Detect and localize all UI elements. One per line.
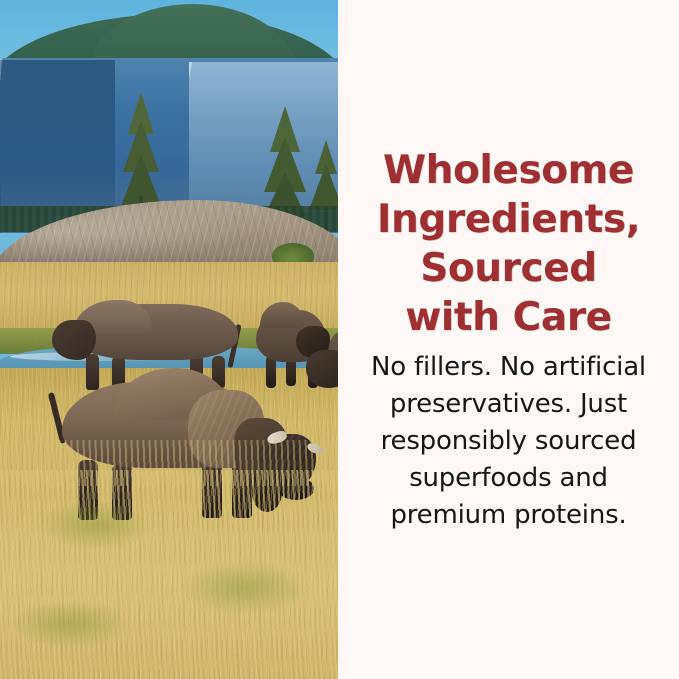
body-copy-line-3: responsibly sourced [352, 423, 665, 460]
headline-line-4: with Care [352, 293, 665, 342]
body-copy-line-4: superfoods and [352, 460, 665, 497]
text-panel: Wholesome Ingredients, Sourced with Care… [338, 0, 679, 679]
grass-patch [40, 500, 150, 550]
headline-line-2: Ingredients, [352, 195, 665, 244]
grass-patch [10, 600, 130, 648]
bison-prairie-photo [0, 0, 338, 679]
headline: Wholesome Ingredients, Sourced with Care [352, 146, 665, 342]
body-copy-line-2: preservatives. Just [352, 386, 665, 423]
body-copy: No fillers. No artificial preservatives.… [352, 349, 665, 534]
grass-patch [180, 560, 310, 615]
headline-line-1: Wholesome [352, 146, 665, 195]
bison-hump [260, 302, 304, 328]
body-copy-line-1: No fillers. No artificial [352, 349, 665, 386]
bison-muzzle [278, 478, 314, 500]
promotional-banner: Wholesome Ingredients, Sourced with Care… [0, 0, 679, 679]
headline-line-3: Sourced [352, 244, 665, 293]
body-copy-line-5: premium proteins. [352, 497, 665, 534]
photo-scene [0, 0, 338, 679]
cliff-shadow-area [0, 60, 115, 210]
bison-head [52, 320, 96, 360]
